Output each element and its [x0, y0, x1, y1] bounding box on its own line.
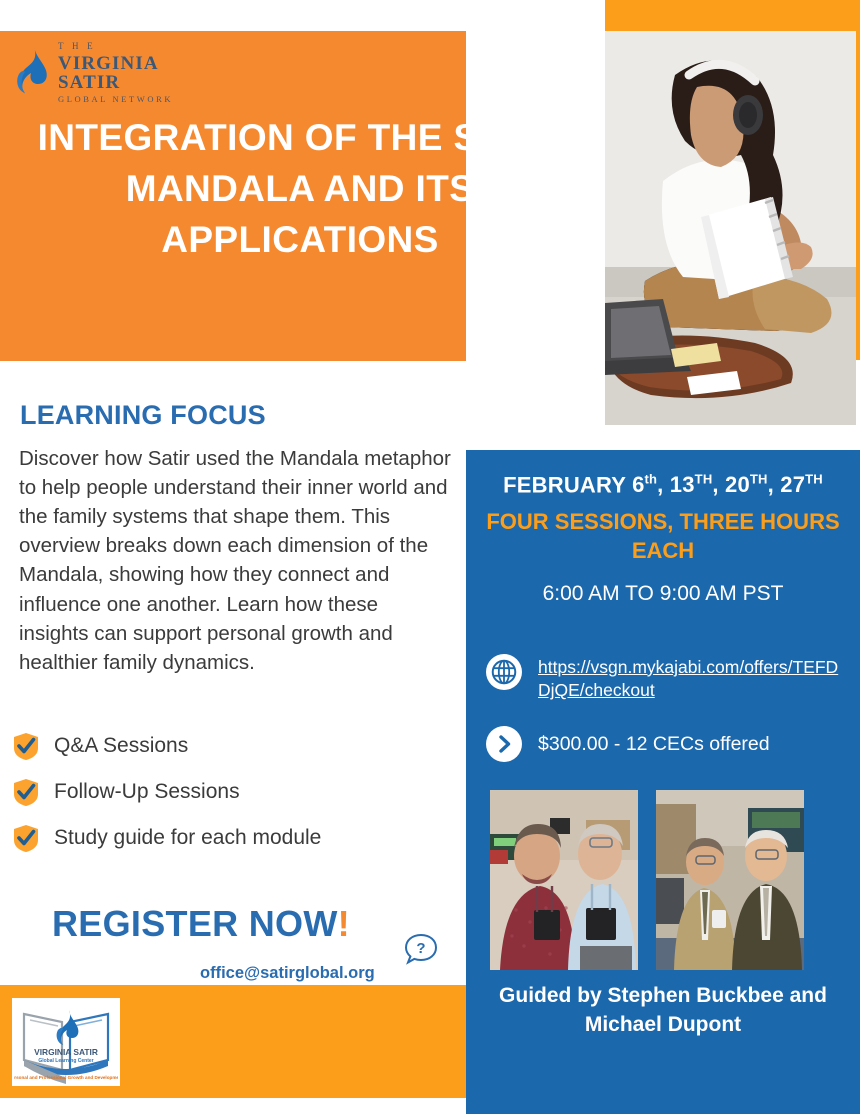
- presenters-photo-2-illustration: [656, 790, 804, 970]
- brand-line-2: VIRGINIA SATIR: [58, 54, 212, 92]
- shield-check-icon: [14, 733, 38, 760]
- date-3: 20TH,: [725, 472, 774, 497]
- presenters-photo-1: [490, 790, 638, 970]
- list-item: Follow-Up Sessions: [14, 769, 454, 815]
- contact-email[interactable]: office@satirglobal.org: [200, 964, 375, 983]
- footer-logo-name-2: Global Learning Center: [38, 1058, 93, 1064]
- flame-icon: [12, 46, 50, 100]
- hero-photo: [605, 31, 856, 425]
- session-count: FOUR SESSIONS, THREE HOURS EACH: [466, 507, 860, 565]
- brand-line-3: GLOBAL NETWORK: [58, 95, 212, 104]
- checkout-link-row[interactable]: https://vsgn.mykajabi.com/offers/TEFDDjQ…: [486, 654, 842, 703]
- shield-check-icon: [14, 779, 38, 806]
- register-cta[interactable]: REGISTER NOW!: [52, 903, 350, 945]
- price-text: $300.00 - 12 CECs offered: [538, 733, 770, 756]
- svg-text:?: ?: [416, 940, 425, 957]
- flyer-canvas: T H E VIRGINIA SATIR GLOBAL NETWORK INTE…: [0, 0, 860, 1114]
- presenters-photo-1-illustration: [490, 790, 638, 970]
- hero-photo-illustration: [605, 31, 856, 425]
- footer-logo: VIRGINIA SATIR Global Learning Center Pe…: [12, 998, 120, 1086]
- feature-checklist: Q&A Sessions Follow-Up Sessions Study gu…: [14, 723, 454, 861]
- date-2: 13TH,: [670, 472, 719, 497]
- session-times: 6:00 AM TO 9:00 AM PST: [466, 582, 860, 606]
- checkout-url[interactable]: https://vsgn.mykajabi.com/offers/TEFDDjQ…: [538, 654, 842, 703]
- price-row: $300.00 - 12 CECs offered: [486, 726, 842, 762]
- date-4: 27TH: [780, 472, 823, 497]
- list-item-label: Study guide for each module: [54, 826, 321, 850]
- question-bubble-icon: ?: [404, 933, 438, 967]
- list-item-label: Q&A Sessions: [54, 734, 188, 758]
- globe-icon: [486, 654, 522, 690]
- brand-line-1: T H E: [58, 42, 212, 51]
- details-panel: FEBRUARY 6th, 13TH, 20TH, 27TH FOUR SESS…: [466, 450, 860, 1114]
- learning-focus-heading: LEARNING FOCUS: [20, 400, 266, 431]
- list-item: Study guide for each module: [14, 815, 454, 861]
- footer-logo-tagline: Personal and Professional Growth and Dev…: [14, 1075, 118, 1080]
- book-flame-logo: VIRGINIA SATIR Global Learning Center Pe…: [14, 1000, 118, 1084]
- list-item: Q&A Sessions: [14, 723, 454, 769]
- date-prefix: FEBRUARY: [503, 472, 626, 497]
- guided-by-caption: Guided by Stephen Buckbee and Michael Du…: [486, 982, 840, 1040]
- register-cta-text: REGISTER NOW: [52, 903, 338, 944]
- page-title: INTEGRATION OF THE SELF-MANDALA AND ITS …: [0, 112, 600, 265]
- register-cta-mark: !: [338, 903, 350, 944]
- brand-logo: T H E VIRGINIA SATIR GLOBAL NETWORK: [12, 42, 212, 104]
- presenters-photo-2: [656, 790, 804, 970]
- shield-check-icon: [14, 825, 38, 852]
- footer-logo-name-1: VIRGINIA SATIR: [34, 1047, 98, 1057]
- learning-focus-body: Discover how Satir used the Mandala meta…: [19, 444, 451, 677]
- date-1: 6th,: [632, 472, 663, 497]
- list-item-label: Follow-Up Sessions: [54, 780, 240, 804]
- session-dates: FEBRUARY 6th, 13TH, 20TH, 27TH: [466, 472, 860, 498]
- chevron-right-circle-icon: [486, 726, 522, 762]
